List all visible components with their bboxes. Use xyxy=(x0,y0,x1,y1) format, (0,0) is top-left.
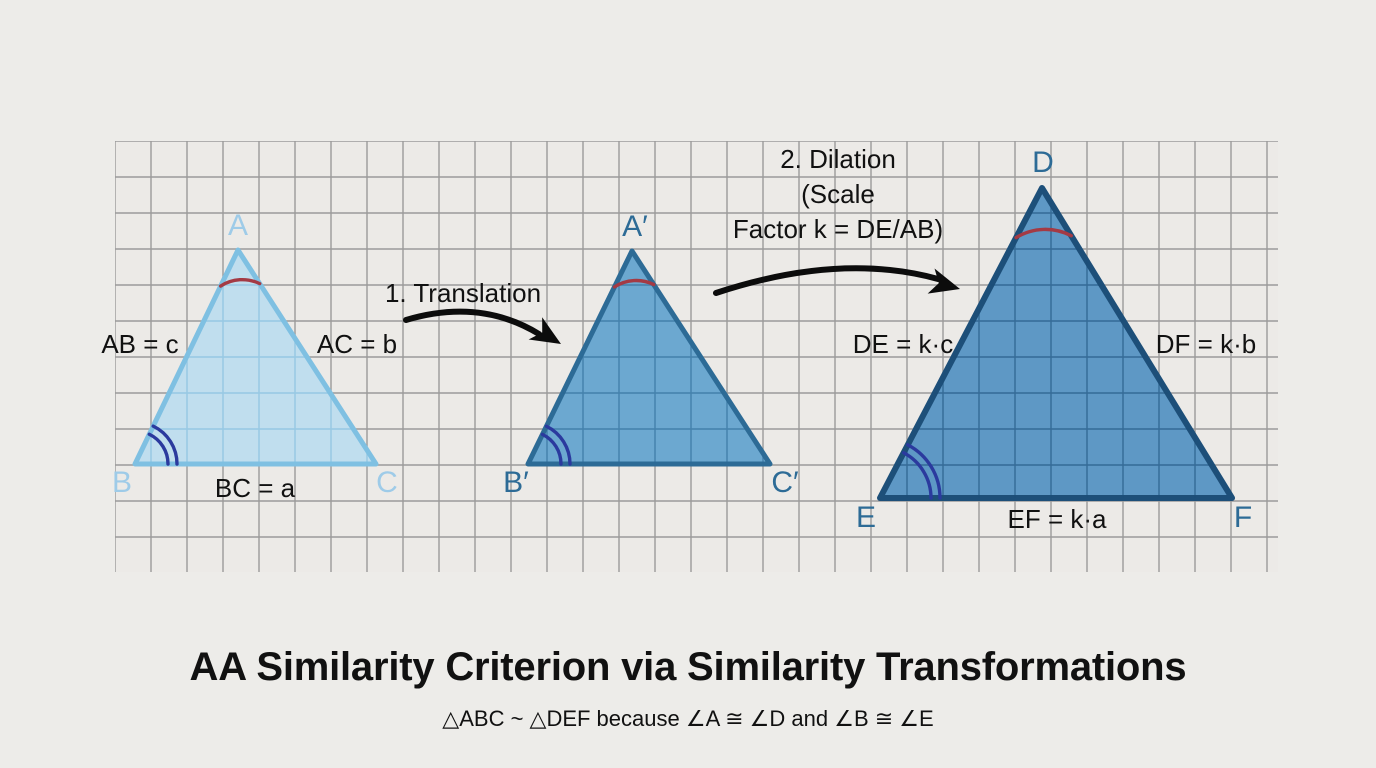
vertex-label-c-prime: C′ xyxy=(771,466,799,499)
side-label-ab: AB = c xyxy=(101,329,178,359)
vertex-label-d: D xyxy=(1032,146,1054,179)
dilation-annotation-line: (Scale xyxy=(801,179,875,209)
vertex-label-a-prime: A′ xyxy=(622,210,648,243)
side-label-de: DE = k·c xyxy=(853,329,953,359)
dilation-annotation-line: Factor k = DE/AB) xyxy=(733,214,943,244)
side-label-df: DF = k·b xyxy=(1156,329,1256,359)
vertex-label-f: F xyxy=(1234,501,1252,534)
side-label-ef: EF = k·a xyxy=(1008,504,1108,534)
page-subtitle: △ABC ~ △DEF because ∠A ≅ ∠D and ∠B ≅ ∠E xyxy=(0,706,1376,732)
side-label-ac: AC = b xyxy=(317,329,397,359)
page-title: AA Similarity Criterion via Similarity T… xyxy=(0,645,1376,690)
vertex-label-c: C xyxy=(376,466,398,499)
side-label-bc: BC = a xyxy=(215,473,296,503)
vertex-label-b-prime: B′ xyxy=(503,466,529,499)
vertex-label-e: E xyxy=(856,501,876,534)
diagram-canvas: ABCAB = cAC = bBC = aA′B′C′DEFDE = k·cDF… xyxy=(0,0,1376,768)
vertex-label-a: A xyxy=(228,209,248,242)
translation-annotation-line: 1. Translation xyxy=(385,278,541,308)
dilation-annotation-line: 2. Dilation xyxy=(780,144,896,174)
vertex-label-b: B xyxy=(112,466,132,499)
